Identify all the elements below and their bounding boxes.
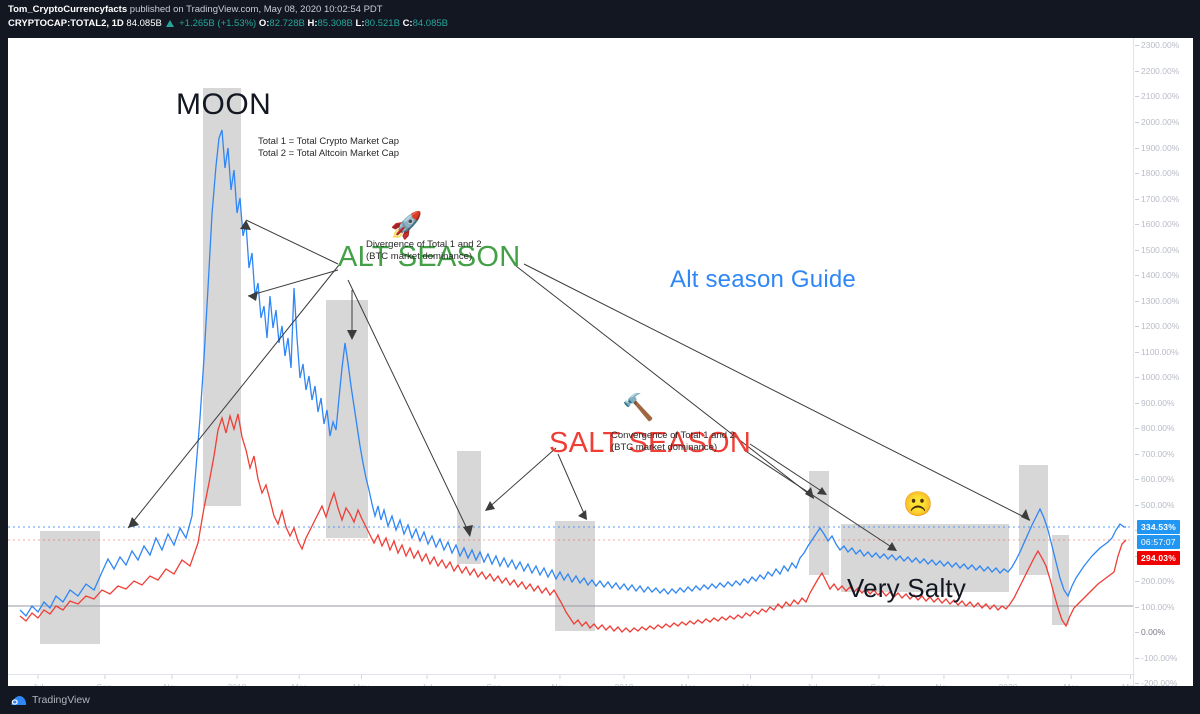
total1-price-badge[interactable]: 334.53% <box>1137 520 1180 534</box>
annotation-alt-season-guide: Alt season Guide <box>670 266 856 294</box>
price-tick: 1700.00% <box>1141 194 1179 204</box>
annotation-very-salty: Very Salty <box>847 573 966 604</box>
ohlc-high-key: H: <box>307 18 317 29</box>
annotation-legend: Total 1 = Total Crypto Market Cap Total … <box>258 136 399 160</box>
price-tick: 200.00% <box>1141 576 1175 586</box>
chart-header: Tom_CryptoCurrencyfacts published on Tra… <box>0 0 1200 38</box>
price-tick-zero: 0.00% <box>1141 627 1165 637</box>
price-tick: 1400.00% <box>1141 270 1179 280</box>
price-tick: 700.00% <box>1141 449 1175 459</box>
price-tick: -100.00% <box>1141 653 1177 663</box>
triangle-up-icon <box>166 20 174 27</box>
price-tick: 900.00% <box>1141 398 1175 408</box>
arrow-salt-4 <box>750 444 826 494</box>
hammer-icon: 🔨 <box>622 394 654 420</box>
annotation-convergence: Convergence of Total 1 and 2 (BTC market… <box>611 430 735 454</box>
publication-line: Tom_CryptoCurrencyfacts published on Tra… <box>8 4 1200 16</box>
ohlc-open-value: 82.728B <box>269 18 304 29</box>
ohlc-close-key: C: <box>403 18 413 29</box>
arrow-alt-2 <box>246 220 338 264</box>
price-tick: 1100.00% <box>1141 347 1179 357</box>
arrow-alt-6 <box>516 266 814 498</box>
price-tick: 600.00% <box>1141 474 1175 484</box>
annotation-arrows <box>128 220 1030 550</box>
arrowhead-alt-1 <box>128 517 139 528</box>
highlight-box-alt-season-2 <box>203 88 241 506</box>
arrow-salt-1 <box>486 448 556 510</box>
last-price: 84.085B <box>126 18 161 29</box>
ohlc-group: O:82.728B H:85.308B L:80.521B C:84.085B <box>259 18 448 29</box>
price-tick: 1500.00% <box>1141 245 1179 255</box>
rocket-icon: 🚀 <box>390 212 422 238</box>
ohlc-high-value: 85.308B <box>318 18 353 29</box>
countdown-badge[interactable]: 06:57:07 <box>1137 535 1180 549</box>
highlight-box-alt-season-4 <box>457 451 481 564</box>
annotation-moon: MOON <box>176 88 271 122</box>
tradingview-brand[interactable]: TradingView <box>10 694 90 707</box>
price-tick: 1800.00% <box>1141 168 1179 178</box>
author-name: Tom_CryptoCurrencyfacts <box>8 4 127 15</box>
price-tick: 1600.00% <box>1141 219 1179 229</box>
price-axis[interactable]: 2300.00% 2200.00% 2100.00% 2000.00% 1900… <box>1133 38 1193 714</box>
symbol-quote-line: CRYPTOCAP:TOTAL2, 1D 84.085B +1.265B (+1… <box>8 17 1200 30</box>
arrowhead-salt-2 <box>578 510 587 520</box>
arrow-salt-2 <box>558 454 586 518</box>
highlight-box-alt-season-3 <box>326 300 368 538</box>
total2-price-badge[interactable]: 294.03% <box>1137 551 1180 565</box>
symbol-label[interactable]: CRYPTOCAP:TOTAL2, 1D <box>8 18 124 29</box>
price-tick: 2100.00% <box>1141 91 1179 101</box>
footer-bar: TradingView <box>0 686 1200 714</box>
price-tick: 2300.00% <box>1141 40 1179 50</box>
ohlc-low-value: 80.521B <box>365 18 400 29</box>
published-prefix: published on TradingView.com, <box>130 4 261 15</box>
frowning-face-icon: ☹️ <box>903 493 933 517</box>
price-tick: 1200.00% <box>1141 321 1179 331</box>
ohlc-low-key: L: <box>356 18 365 29</box>
highlight-boxes <box>40 88 1069 644</box>
price-tick: 1000.00% <box>1141 372 1179 382</box>
price-tick: 2000.00% <box>1141 117 1179 127</box>
tradingview-logo-icon <box>10 694 27 707</box>
chart-plot-area[interactable]: MOON 🚀 ALT SEASON 🔨 SALT SEASON Alt seas… <box>8 38 1133 674</box>
price-tick: 1300.00% <box>1141 296 1179 306</box>
price-tick: 500.00% <box>1141 500 1175 510</box>
ohlc-close-value: 84.085B <box>413 18 448 29</box>
left-frame-strip <box>0 0 8 714</box>
arrow-alt-7 <box>524 264 1030 520</box>
tradingview-label: TradingView <box>32 694 90 706</box>
change-value: +1.265B (+1.53%) <box>179 18 256 29</box>
annotation-divergence: Divergence of Total 1 and 2 (BTC market … <box>366 239 481 263</box>
right-frame-strip <box>1193 0 1200 714</box>
price-tick: 2200.00% <box>1141 66 1179 76</box>
ohlc-open-key: O: <box>259 18 270 29</box>
price-tick: 800.00% <box>1141 423 1175 433</box>
price-tick: 1900.00% <box>1141 143 1179 153</box>
published-date: May 08, 2020 10:02:54 PDT <box>264 4 383 15</box>
highlight-box-alt-season-5 <box>809 471 829 575</box>
price-tick: 100.00% <box>1141 602 1175 612</box>
tradingview-chart-screenshot: MOON 🚀 ALT SEASON 🔨 SALT SEASON Alt seas… <box>0 0 1200 714</box>
highlight-box-salt-season-1 <box>555 521 595 631</box>
arrowhead-alt-3 <box>248 291 258 301</box>
arrowhead-salt-1 <box>485 501 495 511</box>
